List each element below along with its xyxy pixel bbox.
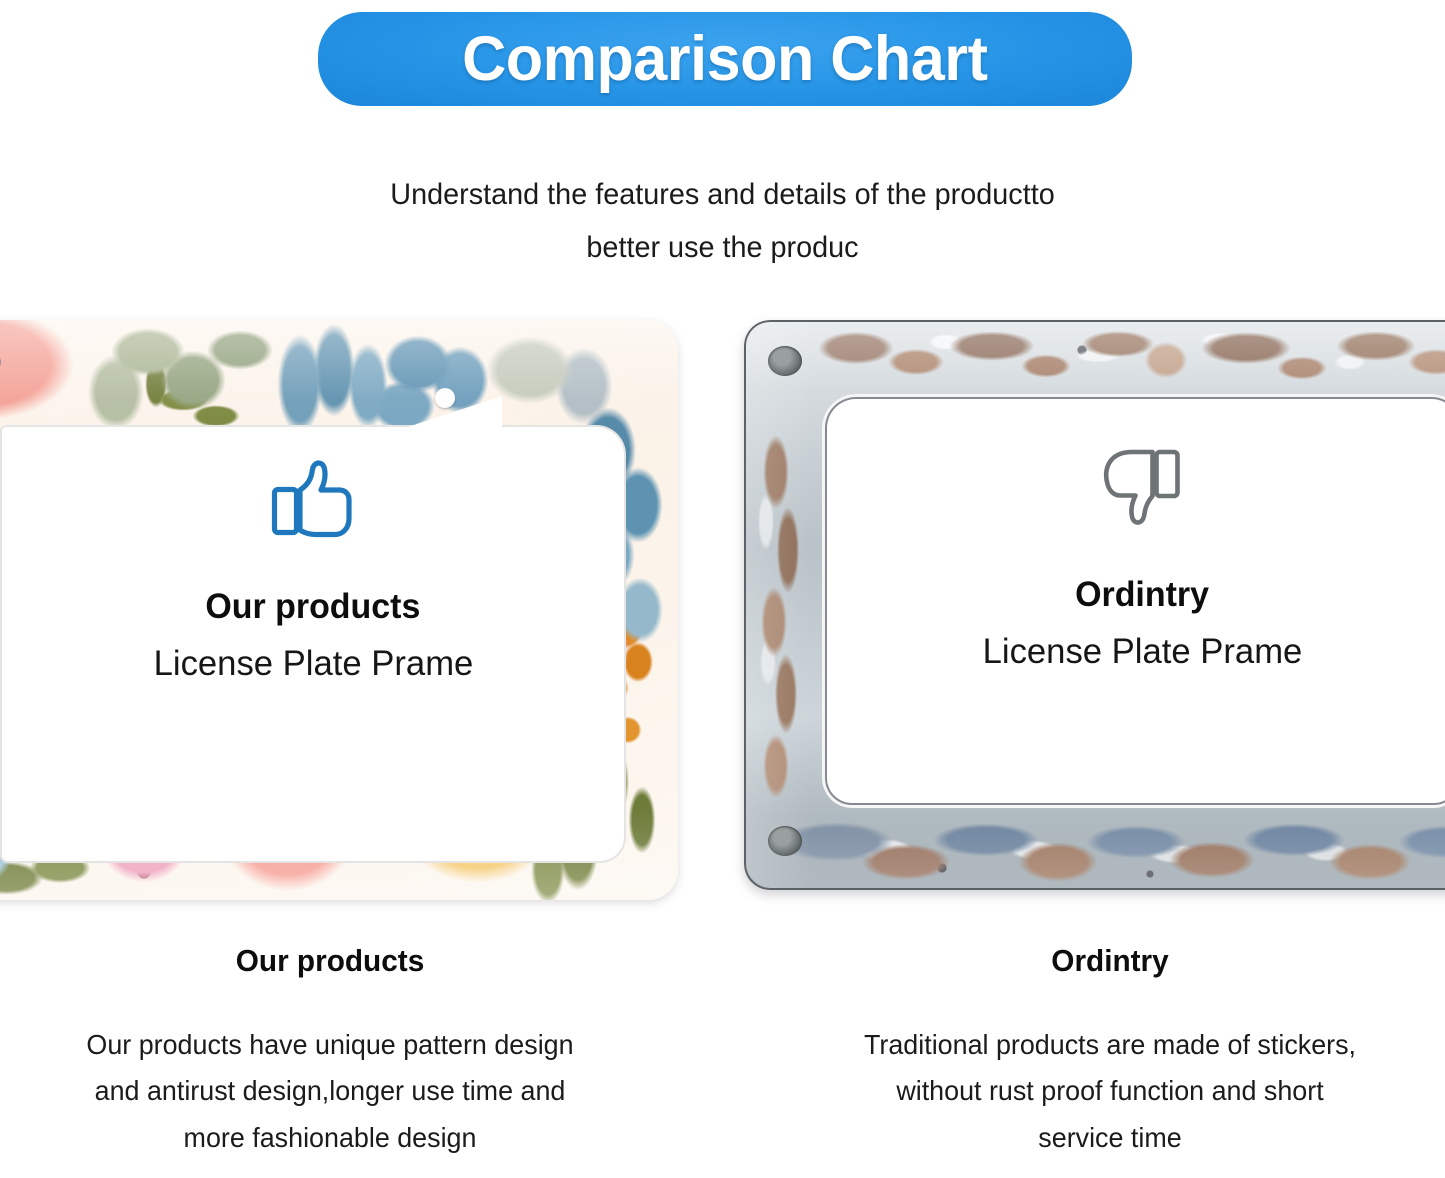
chrome-frame-screw-hole-bottom [768,826,802,856]
subtitle-line-2: better use the produc [29,221,1416,274]
ordinary-product-title: Ordintry [1075,577,1209,612]
ordinary-product-panel: Ordintry License Plate Prame [744,320,1445,890]
floral-frame-screw-hole [435,388,455,408]
thumbs-up-icon [270,458,356,545]
ordinary-product-desc-line-3: service time [788,1115,1431,1161]
ordinary-product-description-body: Traditional products are made of sticker… [788,1022,1431,1161]
comparison-chart-banner: Comparison Chart [318,12,1132,106]
our-product-desc-line-2: and antirust design,longer use time and [13,1068,647,1114]
ordinary-product-subtitle: License Plate Prame [982,634,1302,669]
subtitle-line-1: Understand the features and details of t… [29,168,1416,221]
our-product-description-column: Our products Our products have unique pa… [0,945,660,1161]
our-product-panel: Our products License Plate Prame [0,320,678,900]
ordinary-product-description-heading: Ordintry [788,945,1431,976]
ordinary-product-desc-line-1: Traditional products are made of sticker… [788,1022,1431,1068]
our-product-description-body: Our products have unique pattern design … [13,1022,647,1161]
thumbs-down-icon [1101,446,1183,533]
our-product-desc-line-3: more fashionable design [13,1115,647,1161]
our-product-title: Our products [205,589,420,624]
our-product-description-heading: Our products [13,945,647,976]
chrome-frame-screw-hole-top [768,346,802,376]
ordinary-product-label-block: Ordintry License Plate Prame [822,446,1445,669]
our-product-label-block: Our products License Plate Prame [0,458,626,681]
our-product-desc-line-1: Our products have unique pattern design [13,1022,647,1068]
ordinary-product-desc-line-2: without rust proof function and short [788,1068,1431,1114]
ordinary-product-description-column: Ordintry Traditional products are made o… [775,945,1445,1161]
our-product-subtitle: License Plate Prame [153,646,473,681]
page-subtitle: Understand the features and details of t… [29,168,1416,275]
page-title: Comparison Chart [462,28,987,91]
